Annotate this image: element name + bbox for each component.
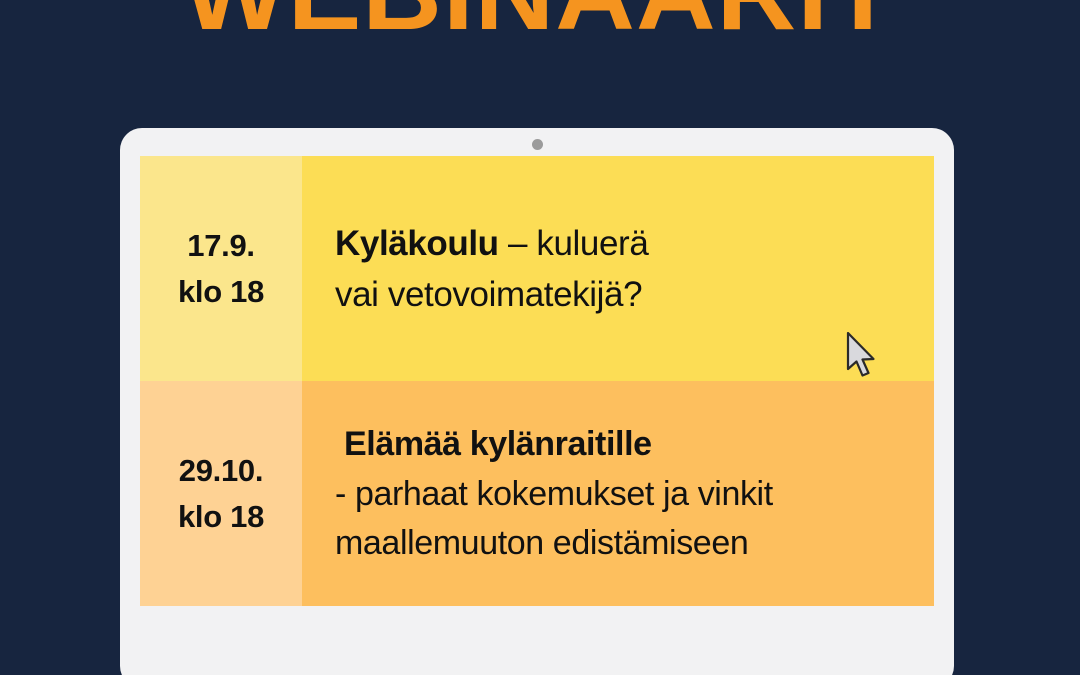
schedule-row[interactable]: 29.10. klo 18 Elämää kylänraitille - par… — [140, 381, 934, 606]
schedule-row-date: 29.10. — [179, 448, 263, 494]
schedule-row-title-line: Kyläkoulu – kuluerä — [335, 219, 920, 269]
schedule-row-date-cell: 29.10. klo 18 — [140, 381, 302, 606]
tablet-device-frame: 17.9. klo 18 Kyläkoulu – kuluerä vai vet… — [120, 128, 954, 675]
schedule-row-date-cell: 17.9. klo 18 — [140, 156, 302, 381]
schedule-row-body-cell: Kyläkoulu – kuluerä vai vetovoimatekijä? — [302, 156, 934, 381]
schedule-row-subtitle-line: - parhaat kokemukset ja vinkit — [335, 470, 920, 520]
schedule-row-body-cell: Elämää kylänraitille - parhaat kokemukse… — [302, 381, 934, 606]
tablet-screen: 17.9. klo 18 Kyläkoulu – kuluerä vai vet… — [140, 156, 934, 606]
page-title: WEBINAARIT — [0, 0, 1080, 46]
schedule-row-date: 17.9. — [187, 223, 254, 269]
schedule-row-time: klo 18 — [178, 494, 264, 540]
schedule-row-title-line: Elämää kylänraitille — [335, 420, 920, 470]
poster-canvas: WEBINAARIT 17.9. klo 18 Kyläkoulu – kulu… — [0, 0, 1080, 675]
schedule-row-time: klo 18 — [178, 269, 264, 315]
schedule-row-title-rest: – kuluerä — [499, 224, 649, 263]
schedule-row-title-bold: Kyläkoulu — [335, 224, 499, 263]
schedule-row-title-bold: Elämää kylänraitille — [335, 425, 652, 463]
schedule-row-subtitle-line: vai vetovoimatekijä? — [335, 270, 920, 320]
camera-icon — [532, 139, 543, 150]
schedule-row[interactable]: 17.9. klo 18 Kyläkoulu – kuluerä vai vet… — [140, 156, 934, 381]
schedule-row-subtitle-line-2: maallemuuton edistämiseen — [335, 519, 920, 569]
